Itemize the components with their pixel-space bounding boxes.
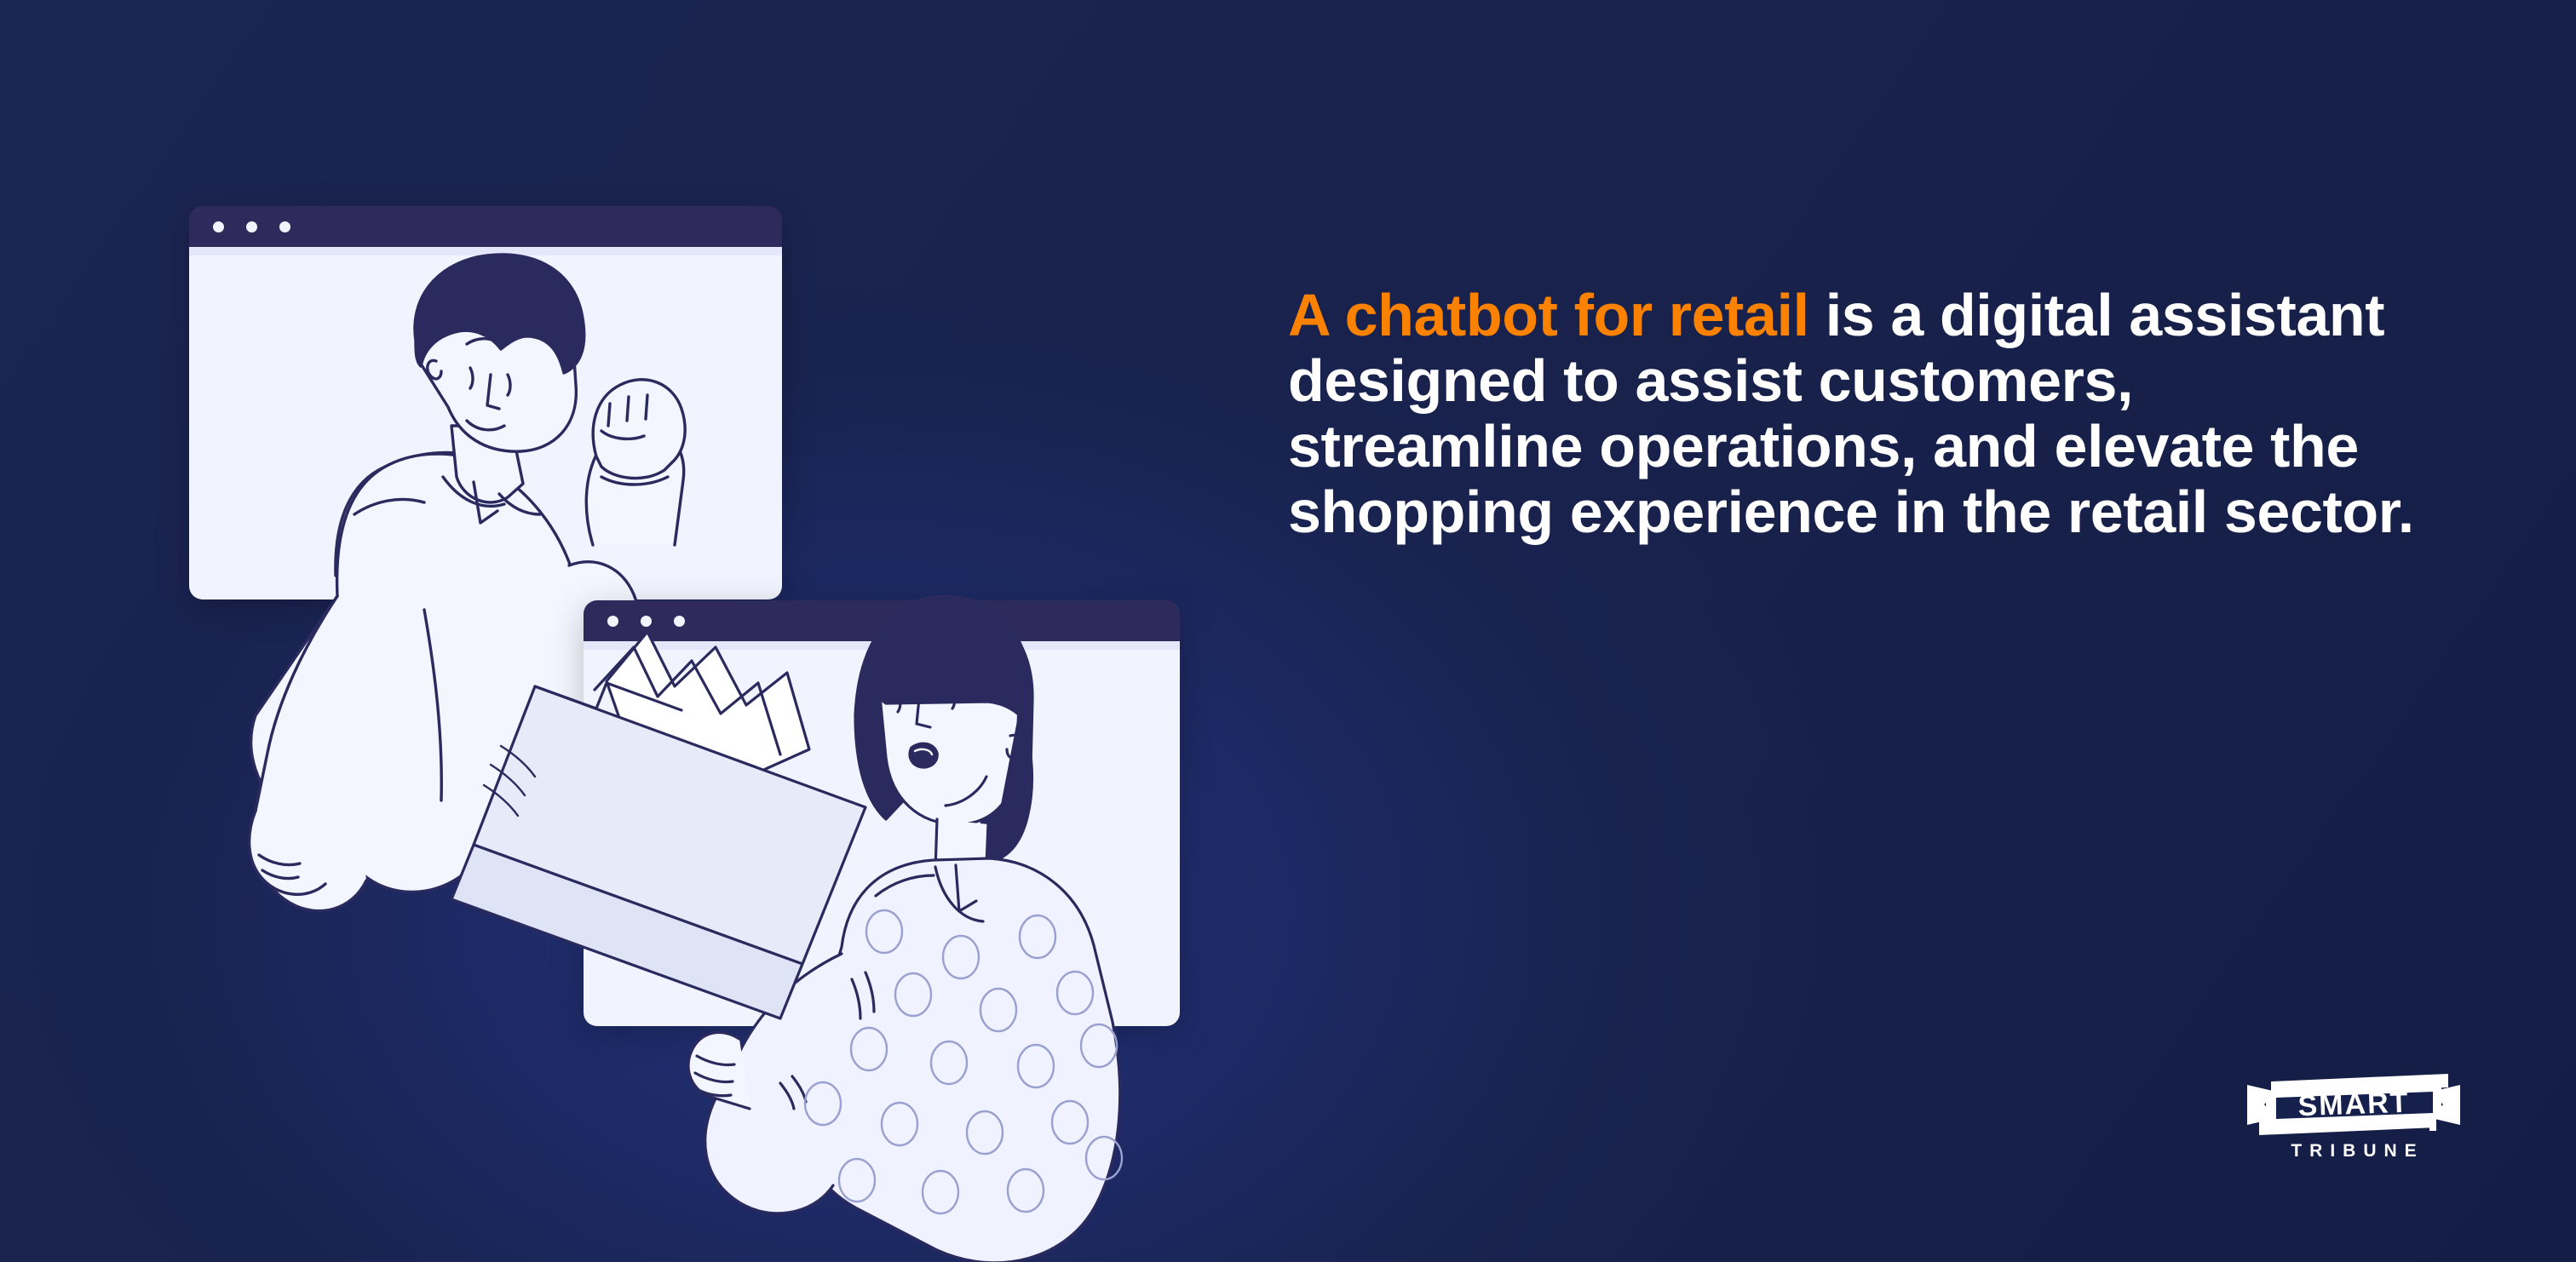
browser-window-man	[189, 206, 782, 599]
window-dot-yellow-icon[interactable]	[246, 221, 257, 232]
smart-tribune-logo[interactable]: SMART TRIBUNE	[2247, 1071, 2460, 1173]
window-dot-red-icon[interactable]	[607, 616, 618, 627]
window-dot-green-icon[interactable]	[279, 221, 290, 232]
window-dot-green-icon[interactable]	[674, 616, 685, 627]
window-titlebar	[584, 600, 1180, 641]
window-content-area	[584, 641, 1180, 1026]
logo-tribune-text: TRIBUNE	[2247, 1141, 2460, 1162]
browser-window-woman	[584, 600, 1180, 1026]
window-dot-red-icon[interactable]	[213, 221, 224, 232]
slide-canvas: A chatbot for retail is a digital assist…	[0, 0, 2576, 1262]
window-content-area	[189, 247, 782, 599]
headline-accent: A chatbot for retail	[1288, 282, 1809, 348]
page-title: A chatbot for retail is a digital assist…	[1288, 283, 2421, 545]
headline-block: A chatbot for retail is a digital assist…	[1288, 283, 2421, 545]
illustration-group	[0, 0, 1244, 1262]
window-titlebar	[189, 206, 782, 247]
window-dot-yellow-icon[interactable]	[641, 616, 652, 627]
